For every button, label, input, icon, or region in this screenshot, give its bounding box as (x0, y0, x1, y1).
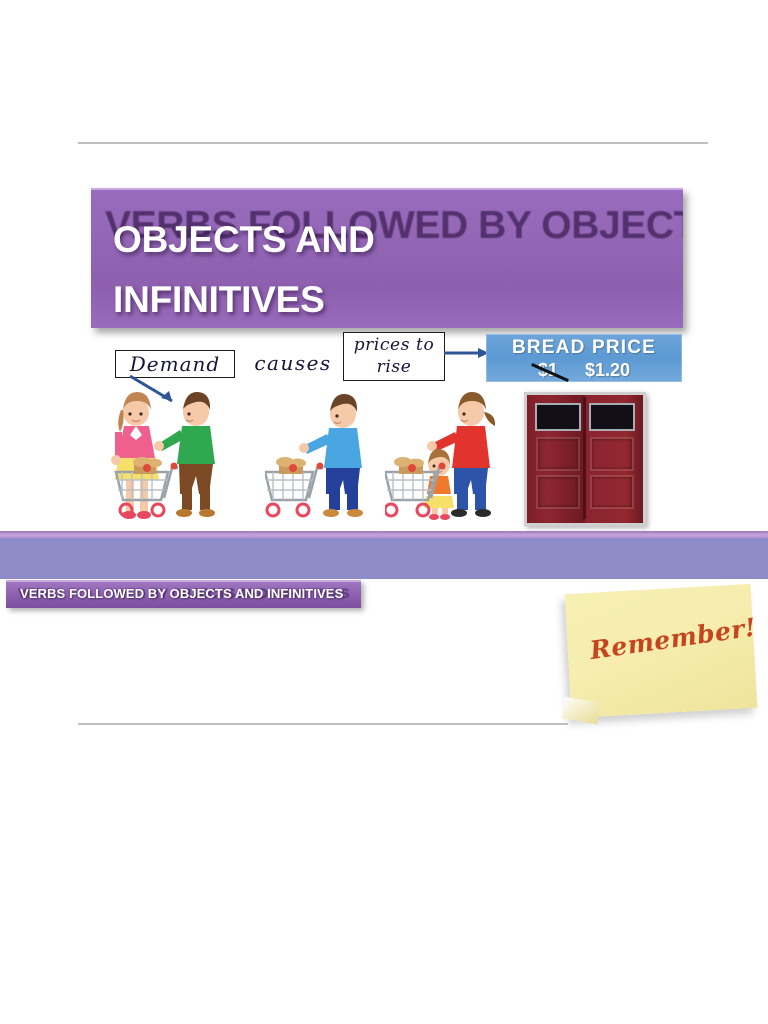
title-ghost-line-2: OBJECTS AND INFINITIVES (541, 204, 683, 247)
shoppers-illustration (0, 386, 768, 526)
decorative-purple-band (0, 531, 768, 579)
sign-price-row: $1 $1.20 (486, 360, 682, 381)
door-panel (536, 437, 580, 471)
sticky-note-text: Remember! (588, 613, 758, 666)
effect-box-line-2: rise (377, 357, 412, 377)
shop-door-icon (524, 392, 646, 526)
door-mullion (583, 397, 586, 519)
new-price: $1.20 (585, 360, 630, 380)
page-title: OBJECTS AND INFINITIVES (113, 210, 543, 328)
door-glass-left (535, 403, 581, 431)
prices-arrow-icon (443, 344, 491, 362)
effect-box: prices to rise (343, 332, 445, 381)
door-panel (590, 475, 634, 509)
top-horizontal-rule (78, 142, 708, 144)
door-glass-right (589, 403, 635, 431)
title-banner: VERBS FOLLOWED BY OBJECTS AND INFINITIVE… (91, 188, 683, 328)
door-panel (590, 437, 634, 471)
subtitle-banner: VERBS FOLLOWED BY OBJECTS AND INFINITIVE… (6, 580, 361, 608)
title-line-1: OBJECTS AND (113, 210, 543, 270)
title-line-2: INFINITIVES (113, 270, 543, 328)
shopper-group-woman-man-icon (104, 386, 254, 526)
door-panel (536, 475, 580, 509)
sticky-note-curl (562, 697, 601, 724)
subtitle-text: VERBS FOLLOWED BY OBJECTS AND INFINITIVE… (20, 586, 343, 601)
sticky-note: Remember! (565, 584, 758, 718)
shopper-group-man-icon (265, 386, 385, 526)
band-top-stripe (0, 531, 768, 538)
sign-header: BREAD PRICE (486, 334, 682, 359)
effect-box-line-1: prices to (354, 335, 435, 355)
causes-label: causes (243, 350, 343, 376)
bread-price-sign: BREAD PRICE $1 $1.20 (486, 334, 682, 382)
shopper-group-woman-child-icon (385, 386, 525, 526)
old-price: $1 (538, 360, 558, 381)
bottom-horizontal-rule (78, 723, 568, 725)
